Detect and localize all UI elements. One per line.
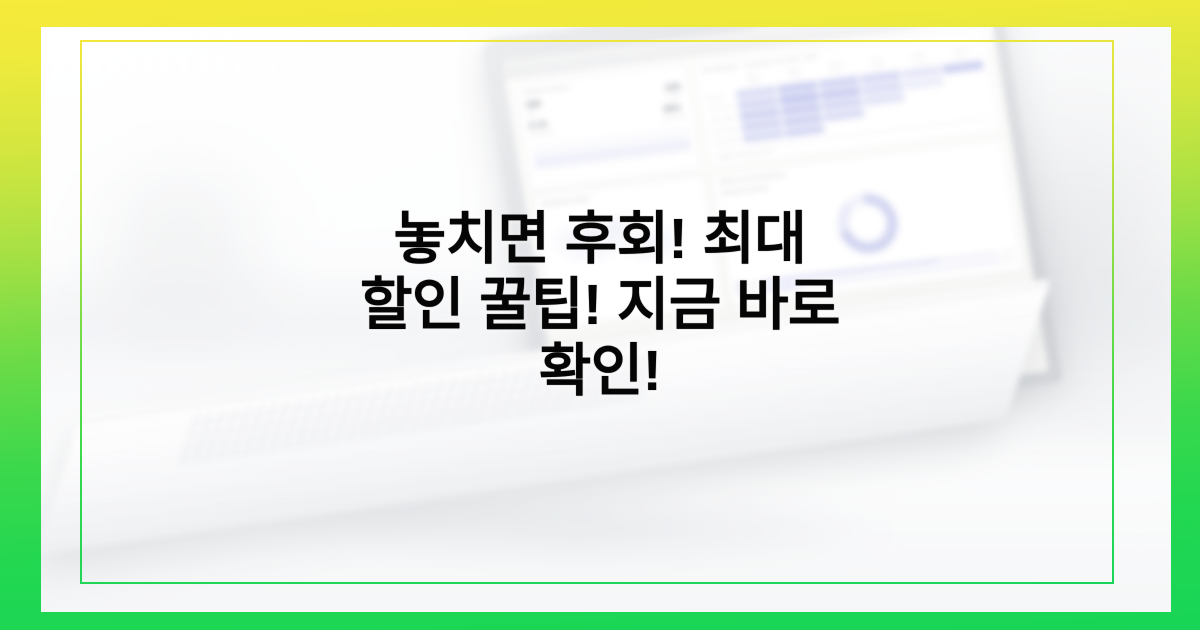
- cohort-row-label: Aug 3 - Aug 9: [711, 125, 740, 133]
- cohort-row-label: Jul 20 - Jul 26: [708, 104, 737, 112]
- background-photo: Audience overview 18K Users 42K: [41, 27, 1171, 612]
- legend-label: Mobile: [746, 288, 759, 294]
- cohort-row-label: All Users: [706, 93, 735, 101]
- cohort-row-label: Aug 9 - Aug 15: [713, 136, 742, 144]
- legend-value: 75.2%: [1001, 249, 1013, 255]
- sessions-by-device-donut-chart: [833, 190, 902, 257]
- world-map-graphic: [543, 194, 711, 290]
- cohort-row-label: Jul 27 - Aug 2: [710, 114, 739, 122]
- connect-report-link[interactable]: CONNECT ANOTHER REPORT: [716, 148, 774, 160]
- kpi-label: Users: [526, 109, 543, 116]
- kpi-item: 18K Users: [525, 99, 544, 116]
- legend-value: 18.4%: [1003, 257, 1015, 263]
- kpi-label: Sessions: [666, 92, 683, 99]
- overview-card: Audience overview 18K Users 42K: [514, 63, 703, 190]
- legend-swatch-icon: [738, 290, 744, 296]
- kpi-item: 38% Bounce rate: [662, 103, 686, 120]
- chevron-right-icon[interactable]: ›: [991, 121, 993, 126]
- laptop: Audience overview 18K Users 42K: [41, 27, 1171, 612]
- kpi-item: 2:14 Avg. duration: [528, 119, 554, 137]
- map-card: Sessions by country: [532, 175, 725, 328]
- poster-canvas: Audience overview 18K Users 42K: [0, 0, 1200, 630]
- legend-label: Desktop: [744, 280, 759, 287]
- legend-swatch-icon: [736, 282, 742, 288]
- device-card: What are your top devices? Sessions by d…: [711, 138, 1025, 306]
- photo-panel: Audience overview 18K Users 42K: [41, 27, 1171, 612]
- kpi-item: 42K Sessions: [664, 82, 683, 99]
